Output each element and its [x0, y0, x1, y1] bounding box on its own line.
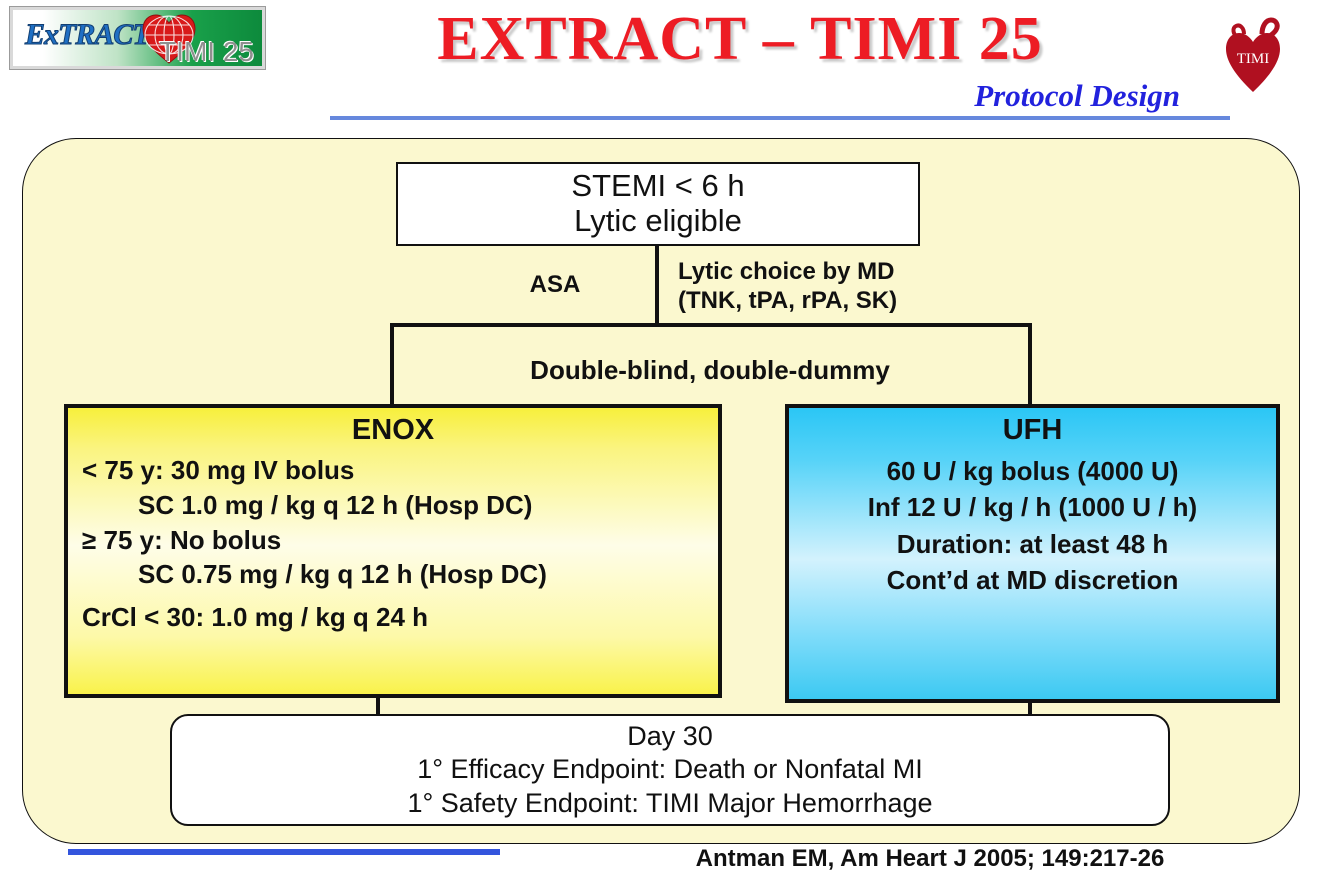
- outcome-timepoint: Day 30: [627, 720, 713, 753]
- outcome-safety-endpoint: 1° Safety Endpoint: TIMI Major Hemorrhag…: [407, 787, 932, 820]
- connector-entry-down: [655, 246, 659, 327]
- logo-brand-text: ExTRACT: [25, 18, 150, 52]
- ufh-title: UFH: [799, 414, 1266, 447]
- connector-randomization-bar: [390, 323, 1032, 327]
- lytic-choice-line-2: (TNK, tPA, rPA, SK): [678, 287, 897, 316]
- ufh-dose-line: Duration: at least 48 h: [799, 526, 1266, 562]
- label-lytic-choice: Lytic choice by MD (TNK, tPA, rPA, SK): [678, 258, 897, 316]
- entry-line-1: STEMI < 6 h: [571, 169, 744, 204]
- ufh-dose-line: Inf 12 U / kg / h (1000 U / h): [799, 489, 1266, 525]
- enox-dose-line: SC 1.0 mg / kg q 12 h (Hosp DC): [82, 488, 704, 523]
- lytic-choice-line-1: Lytic choice by MD: [678, 258, 897, 287]
- logo-sub-text: TIMI 25: [159, 36, 254, 68]
- page-title: EXTRACT – TIMI 25: [300, 8, 1180, 71]
- treatment-arm-ufh: UFH 60 U / kg bolus (4000 U) Inf 12 U / …: [785, 404, 1280, 703]
- connector-to-ufh: [1028, 323, 1032, 405]
- label-randomization: Double-blind, double-dummy: [400, 355, 1020, 386]
- treatment-arm-enox: ENOX < 75 y: 30 mg IV bolus SC 1.0 mg / …: [64, 404, 722, 698]
- connector-to-enox: [390, 323, 394, 405]
- enox-title: ENOX: [82, 414, 704, 447]
- enox-dose-line: SC 0.75 mg / kg q 12 h (Hosp DC): [82, 557, 704, 592]
- ufh-dose-line: Cont’d at MD discretion: [799, 562, 1266, 598]
- timi-logo-label: TIMI: [1237, 51, 1270, 67]
- entry-line-2: Lytic eligible: [574, 204, 742, 239]
- enox-dose-line: CrCl < 30: 1.0 mg / kg q 24 h: [82, 600, 704, 635]
- extract-timi-logo: ExTRACT TIMI 25: [10, 7, 265, 69]
- label-asa: ASA: [470, 271, 640, 299]
- footer-divider: [68, 849, 500, 855]
- citation-text: Antman EM, Am Heart J 2005; 149:217-26: [560, 845, 1300, 873]
- header-divider: [330, 116, 1230, 120]
- page-subtitle: Protocol Design: [300, 78, 1180, 114]
- entry-criteria-box: STEMI < 6 h Lytic eligible: [396, 162, 920, 246]
- outcome-endpoints-box: Day 30 1° Efficacy Endpoint: Death or No…: [170, 714, 1170, 826]
- timi-heart-icon: TIMI: [1222, 16, 1284, 94]
- enox-dose-line: < 75 y: 30 mg IV bolus: [82, 453, 704, 488]
- outcome-efficacy-endpoint: 1° Efficacy Endpoint: Death or Nonfatal …: [417, 753, 923, 786]
- enox-dose-line: ≥ 75 y: No bolus: [82, 523, 704, 558]
- ufh-dose-line: 60 U / kg bolus (4000 U): [799, 453, 1266, 489]
